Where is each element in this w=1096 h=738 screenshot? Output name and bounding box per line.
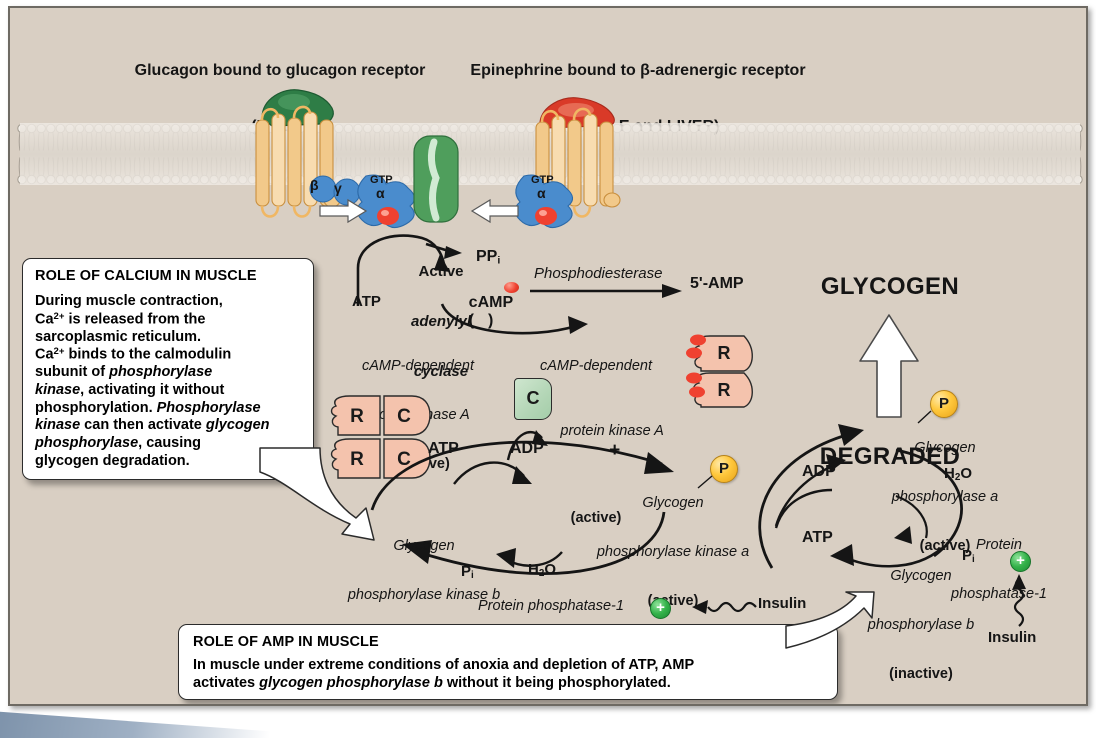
calcium-line-3: sarcoplasmic reticulum. <box>35 329 301 347</box>
calcium-line-4: Ca2+ binds to the calmodulin <box>35 346 301 364</box>
calcium-callout-body: During muscle contraction, Ca2+ is relea… <box>35 293 301 470</box>
svg-text:R: R <box>718 343 731 363</box>
label-5amp: 5'-AMP <box>690 275 744 293</box>
label-protein-phosphatase-1-left: Protein phosphatase-1 <box>478 598 624 614</box>
label-g-gamma: γ <box>334 181 342 197</box>
insulin-inhibition-arrow-right <box>1008 570 1032 628</box>
amp-line-2: activates glycogen phosphorylase b witho… <box>193 675 823 693</box>
label-g-beta: β <box>310 178 319 194</box>
phosphate-leader-line-kinase <box>696 474 718 492</box>
figure-canvas: Glucagon bound to glucagon receptor (LIV… <box>0 0 1096 738</box>
activator-badge-right: + <box>1010 551 1031 572</box>
label-g-alpha-left: α <box>376 186 385 202</box>
calcium-line-1: During muscle contraction, <box>35 293 301 311</box>
calcium-callout-heading: ROLE OF CALCIUM IN MUSCLE <box>35 268 301 284</box>
outcome-line1: GLYCOGEN <box>800 273 980 301</box>
calcium-callout-pointer <box>258 448 388 554</box>
amp-callout-pointer <box>780 592 876 650</box>
label-phosphodiesterase: Phosphodiesterase <box>534 266 662 283</box>
decorative-swoosh <box>0 706 300 738</box>
diagram-panel: Glucagon bound to glucagon receptor (LIV… <box>8 6 1088 706</box>
label-water-left-cycle: H2O <box>528 562 556 579</box>
label-insulin-right: Insulin <box>988 630 1036 647</box>
label-ppi: PPi <box>476 248 500 267</box>
outcome-line3: DEGRADED <box>800 443 980 471</box>
calcium-line-2: Ca2+ is released from the <box>35 311 301 329</box>
pk-a-line1: Glycogen <box>580 495 766 511</box>
amp-callout-heading: ROLE OF AMP IN MUSCLE <box>193 634 823 650</box>
label-atp-cyclase: ATP <box>352 294 381 311</box>
adenylyl-cyclase-protein <box>408 136 464 228</box>
callout-role-of-calcium: ROLE OF CALCIUM IN MUSCLE During muscle … <box>22 258 314 480</box>
title-glucagon-line1: Glucagon bound to glucagon receptor <box>90 62 470 80</box>
phosphodiesterase-arrow <box>530 284 684 300</box>
glycogen-degradation-arrow <box>856 313 926 421</box>
label-adp-left-cycle: ADP <box>510 440 544 458</box>
gp-b-line1: Glycogen <box>846 568 996 584</box>
callout-role-of-amp: ROLE OF AMP IN MUSCLE In muscle under ex… <box>178 624 838 700</box>
calcium-line-8: kinase can then activate glycogen <box>35 417 301 435</box>
amp-callout-body: In muscle under extreme conditions of an… <box>193 657 823 692</box>
title-epinephrine-line1: Epinephrine bound to β-adrenergic recept… <box>438 62 838 80</box>
label-g-alpha-right: α <box>537 186 546 202</box>
pka-active-line1: cAMP-dependent <box>510 358 682 374</box>
g-protein-right <box>510 168 630 230</box>
amp-line-1: In muscle under extreme conditions of an… <box>193 657 823 675</box>
calcium-line-7: phosphorylation. Phosphorylase <box>35 400 301 418</box>
calcium-line-5: subunit of phosphorylase <box>35 364 301 382</box>
label-atp-left-cycle: ATP <box>428 440 459 458</box>
label-pi-left-cycle: Pi <box>461 564 474 581</box>
camp-red-dot-icon <box>504 282 519 293</box>
gp-b-state: (inactive) <box>846 666 996 682</box>
pka-inactive-line1: cAMP-dependent <box>328 358 508 374</box>
label-atp-right-cycle: ATP <box>802 529 833 547</box>
pk-a-line2: phosphorylase kinase a <box>580 544 766 560</box>
calcium-line-6: kinase, activating it without <box>35 382 301 400</box>
svg-text:R: R <box>718 380 731 400</box>
activator-badge-left: + <box>650 598 671 619</box>
